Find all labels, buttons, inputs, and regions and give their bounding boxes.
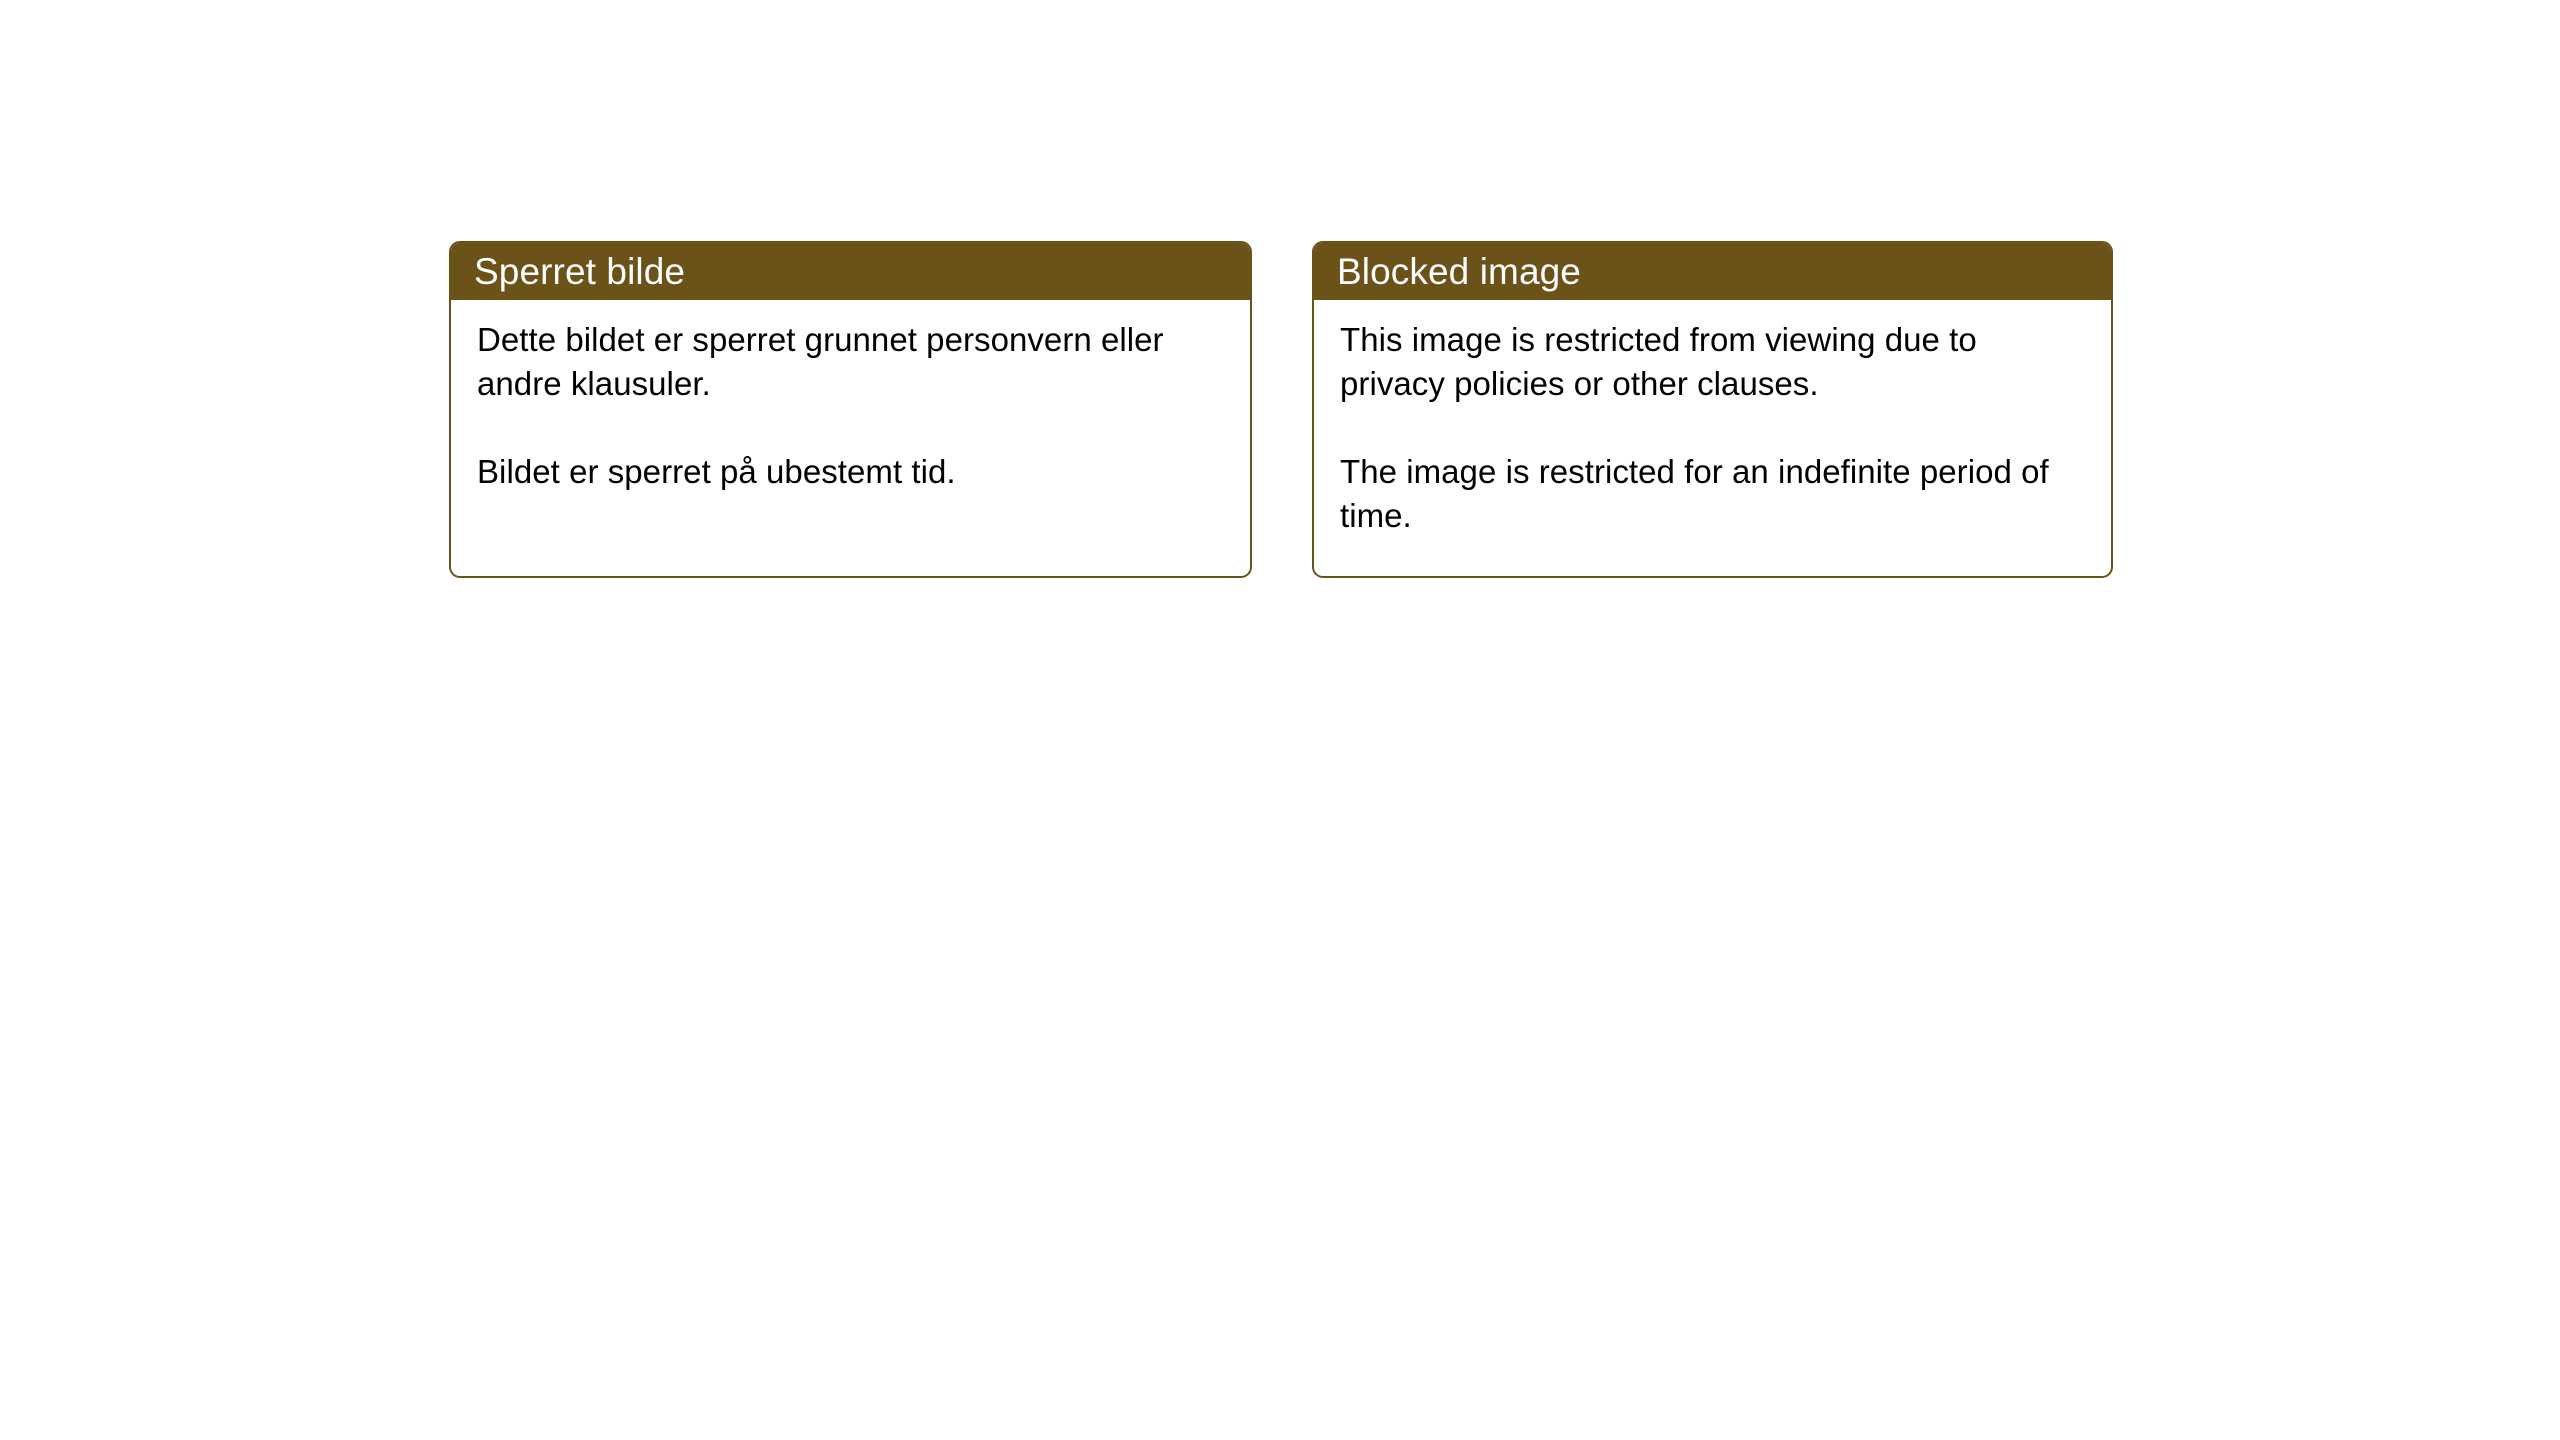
notice-body-english: This image is restricted from viewing du… <box>1314 300 2111 538</box>
blocked-image-notice-norwegian: Sperret bilde Dette bildet er sperret gr… <box>449 241 1252 578</box>
notice-paragraph-english-2: The image is restricted for an indefinit… <box>1340 450 2089 538</box>
notice-title-english: Blocked image <box>1337 253 1581 290</box>
notice-paragraph-norwegian-2: Bildet er sperret på ubestemt tid. <box>477 450 1228 494</box>
notice-paragraph-norwegian-1: Dette bildet er sperret grunnet personve… <box>477 318 1228 406</box>
notice-title-norwegian: Sperret bilde <box>474 253 685 290</box>
notice-paragraph-english-1: This image is restricted from viewing du… <box>1340 318 2089 406</box>
notice-body-norwegian: Dette bildet er sperret grunnet personve… <box>451 300 1250 494</box>
blocked-image-notice-english: Blocked image This image is restricted f… <box>1312 241 2113 578</box>
notice-header-english: Blocked image <box>1313 242 2112 300</box>
notice-header-norwegian: Sperret bilde <box>450 242 1251 300</box>
page-root: Sperret bilde Dette bildet er sperret gr… <box>0 0 2560 1440</box>
